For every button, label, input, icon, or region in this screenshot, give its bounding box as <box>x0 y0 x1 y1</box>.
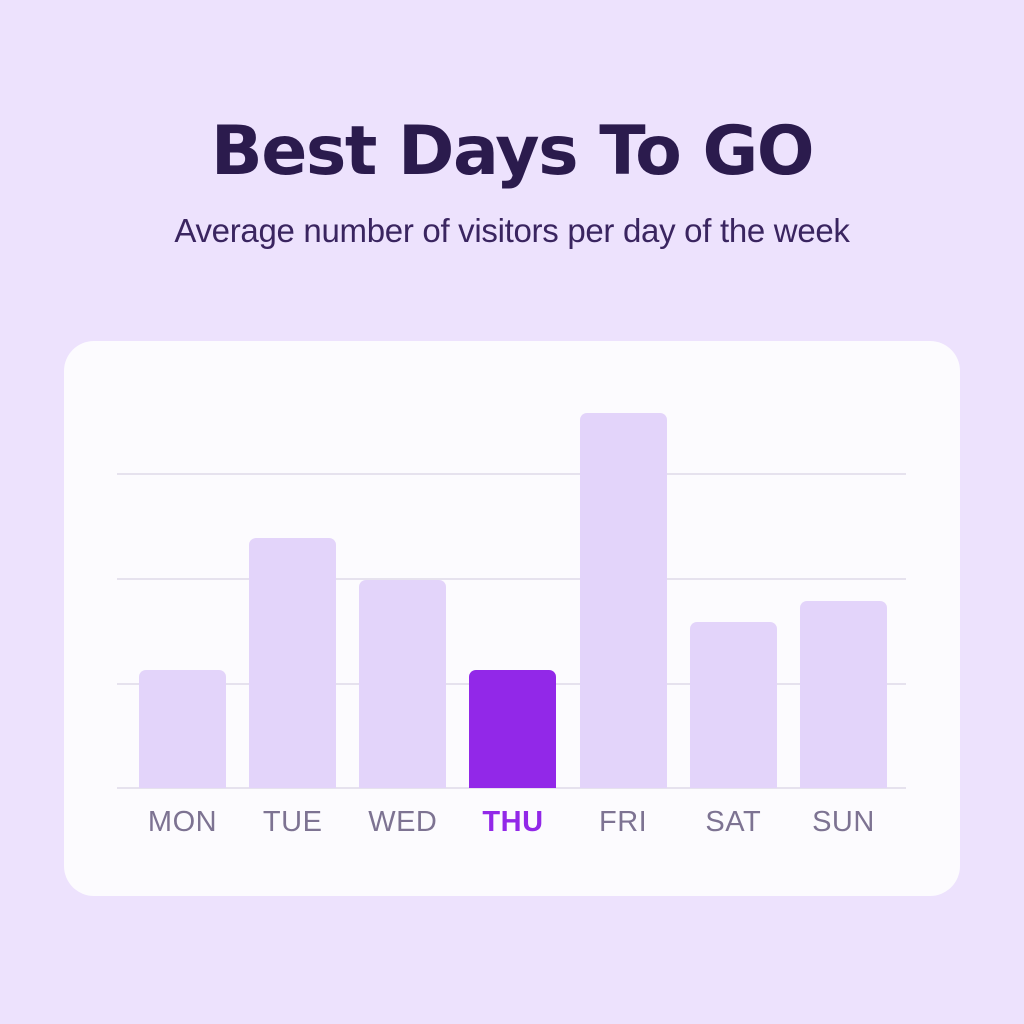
bar-slot-sun <box>800 401 887 788</box>
bar-slot-fri <box>580 401 667 788</box>
page-subtitle: Average number of visitors per day of th… <box>0 186 1024 247</box>
x-axis-labels: MON TUE WED THU FRI SAT SUN <box>117 802 906 850</box>
bar-slot-wed <box>359 401 446 788</box>
x-label-tue: TUE <box>249 802 336 842</box>
x-label-sat: SAT <box>690 802 777 842</box>
poster-canvas: Best Days To GO Average number of visito… <box>0 0 1024 1024</box>
bar-chart-plot-area <box>117 401 906 789</box>
x-label-sun: SUN <box>800 802 887 842</box>
x-label-thu: THU <box>469 802 556 842</box>
header: Best Days To GO Average number of visito… <box>0 0 1024 247</box>
bar-fri[interactable] <box>580 413 667 788</box>
bar-slot-mon <box>139 401 226 788</box>
x-label-fri: FRI <box>580 802 667 842</box>
bar-series <box>139 401 887 788</box>
bar-slot-thu <box>469 401 556 788</box>
x-label-mon: MON <box>139 802 226 842</box>
x-label-wed: WED <box>359 802 446 842</box>
bar-sun[interactable] <box>800 601 887 788</box>
page-title: Best Days To GO <box>0 0 1024 186</box>
bar-thu[interactable] <box>469 670 556 788</box>
bar-slot-sat <box>690 401 777 788</box>
bar-slot-tue <box>249 401 336 788</box>
bar-sat[interactable] <box>690 622 777 788</box>
bar-tue[interactable] <box>249 538 336 788</box>
bar-wed[interactable] <box>359 580 446 788</box>
chart-card: MON TUE WED THU FRI SAT SUN <box>64 341 960 896</box>
bar-mon[interactable] <box>139 670 226 788</box>
